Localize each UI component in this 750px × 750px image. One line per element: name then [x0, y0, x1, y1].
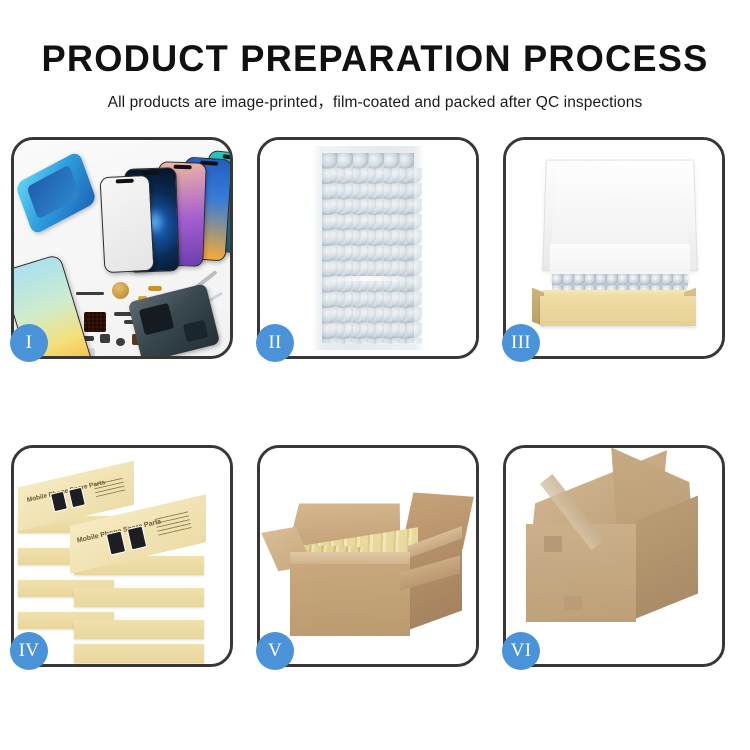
step-6-image: [506, 448, 722, 664]
page-title: PRODUCT PREPARATION PROCESS: [8, 38, 743, 80]
step-badge-1: I: [10, 324, 48, 362]
step-badge-2: II: [256, 324, 294, 362]
process-step-panel-4: Mobile Phone Spare Parts Mobile Phone Sp…: [11, 445, 233, 667]
tape-tab-lower-icon: [564, 596, 582, 610]
phone-screen-white-icon: [100, 175, 155, 273]
step-5-image: [260, 448, 476, 664]
wrap-seam-icon: [320, 276, 416, 281]
step-badge-3: III: [502, 324, 540, 362]
infographic-page: PRODUCT PREPARATION PROCESS All products…: [0, 0, 750, 750]
process-step-panel-6: VI: [503, 445, 725, 667]
header: PRODUCT PREPARATION PROCESS All products…: [0, 0, 750, 112]
page-subtitle: All products are image-printed，film-coat…: [0, 90, 750, 112]
process-step-panel-2: II: [257, 137, 479, 359]
step-1-image: [14, 140, 230, 356]
step-4-image: Mobile Phone Spare Parts Mobile Phone Sp…: [14, 448, 230, 664]
step-3-image: [506, 140, 722, 356]
step-2-image: [260, 140, 476, 356]
step-badge-4: IV: [10, 632, 48, 670]
tape-tab-upper-icon: [544, 536, 562, 552]
box-stack-icon: Mobile Phone Spare Parts Mobile Phone Sp…: [14, 448, 230, 664]
process-steps-grid: I II: [11, 137, 739, 667]
carton-front-icon: [290, 564, 410, 636]
process-step-panel-1: I: [11, 137, 233, 359]
step-badge-6: VI: [502, 632, 540, 670]
process-step-panel-3: III: [503, 137, 725, 359]
blue-adhesive-panel-icon: [15, 150, 97, 235]
process-step-panel-5: V: [257, 445, 479, 667]
bubble-grid-offset-icon: [330, 168, 422, 344]
box-front-icon: [540, 296, 696, 326]
step-badge-5: V: [256, 632, 294, 670]
